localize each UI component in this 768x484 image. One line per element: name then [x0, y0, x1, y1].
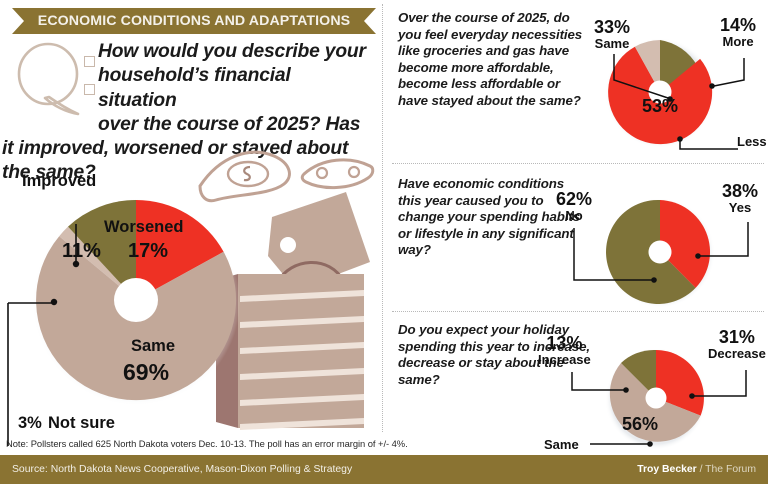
panel-3-decrease-name: Decrease [708, 347, 766, 361]
credit-org: / The Forum [700, 464, 756, 475]
main-label-worsened: Worsened [104, 218, 183, 237]
panel-1-label-more: 14% More [720, 16, 756, 49]
panel-2-no-pct: 62% [556, 190, 592, 209]
panel-1-same-name: Same [594, 37, 630, 51]
main-label-improved-pct: 11% [62, 240, 101, 263]
source-bar: Source: North Dakota News Cooperative, M… [0, 457, 768, 484]
header-ribbon: ECONOMIC CONDITIONS AND ADAPTATIONS [12, 8, 376, 34]
panel-2-no-name: No [556, 209, 592, 223]
panel-divider-1 [392, 163, 764, 164]
main-label-notsure-pct: 3% [18, 414, 42, 433]
credit-text: Troy Becker / The Forum [637, 464, 756, 475]
panel-3-same-pct: 56% [622, 414, 658, 435]
panel-2-label-no: 62% No [556, 190, 592, 223]
panel-2-yes-name: Yes [722, 201, 758, 215]
panel-3-decrease-pct: 31% [708, 328, 766, 347]
main-label-worsened-pct: 17% [128, 240, 168, 263]
panel-2-label-yes: 38% Yes [722, 182, 758, 215]
main-question-line-1: How would you describe your [0, 40, 368, 64]
panel-3-same-name: Same [544, 437, 579, 452]
panel-1-same-pct: 33% [594, 18, 630, 37]
page-title: ECONOMIC CONDITIONS AND ADAPTATIONS [12, 8, 376, 34]
panel-1-question: Over the course of 2025, do you feel eve… [398, 10, 590, 110]
panel-2-yes-pct: 38% [722, 182, 758, 201]
main-question-column: How would you describe your household’s … [0, 34, 376, 432]
panel-affordability: Over the course of 2025, do you feel eve… [392, 10, 764, 155]
main-label-notsure: Not sure [48, 414, 115, 433]
main-question-line-2: household’s financial situation [0, 64, 368, 113]
panel-1-more-name: More [720, 35, 756, 49]
panel-spending-habits: Have economic conditions this year cause… [392, 176, 764, 304]
panel-holiday-spending: Do you expect your holiday spending this… [392, 322, 764, 434]
main-question-line-3: over the course of 2025? Has [0, 113, 368, 137]
main-label-same: Same [131, 337, 175, 356]
panel-1-more-pct: 14% [720, 16, 756, 35]
main-label-improved: Improved [22, 172, 96, 191]
panel-3-increase-name: Increase [538, 353, 591, 367]
column-divider [382, 4, 383, 432]
infographic-page: ECONOMIC CONDITIONS AND ADAPTATIONS How … [0, 0, 768, 484]
panel-1-label-same: 33% Same [594, 18, 630, 51]
credit-name: Troy Becker [637, 464, 697, 475]
panel-1-less-pct: 53% [642, 96, 678, 117]
source-text: Source: North Dakota News Cooperative, M… [12, 464, 352, 475]
panel-divider-2 [392, 311, 764, 312]
panel-3-label-increase: 13% Increase [538, 334, 591, 367]
main-label-same-pct: 69% [123, 359, 169, 386]
panel-3-increase-pct: 13% [538, 334, 591, 353]
poll-note: Note: Pollsters called 625 North Dakota … [6, 438, 408, 449]
panel-3-label-decrease: 31% Decrease [708, 328, 766, 361]
panel-1-less-name: Less [737, 134, 767, 149]
